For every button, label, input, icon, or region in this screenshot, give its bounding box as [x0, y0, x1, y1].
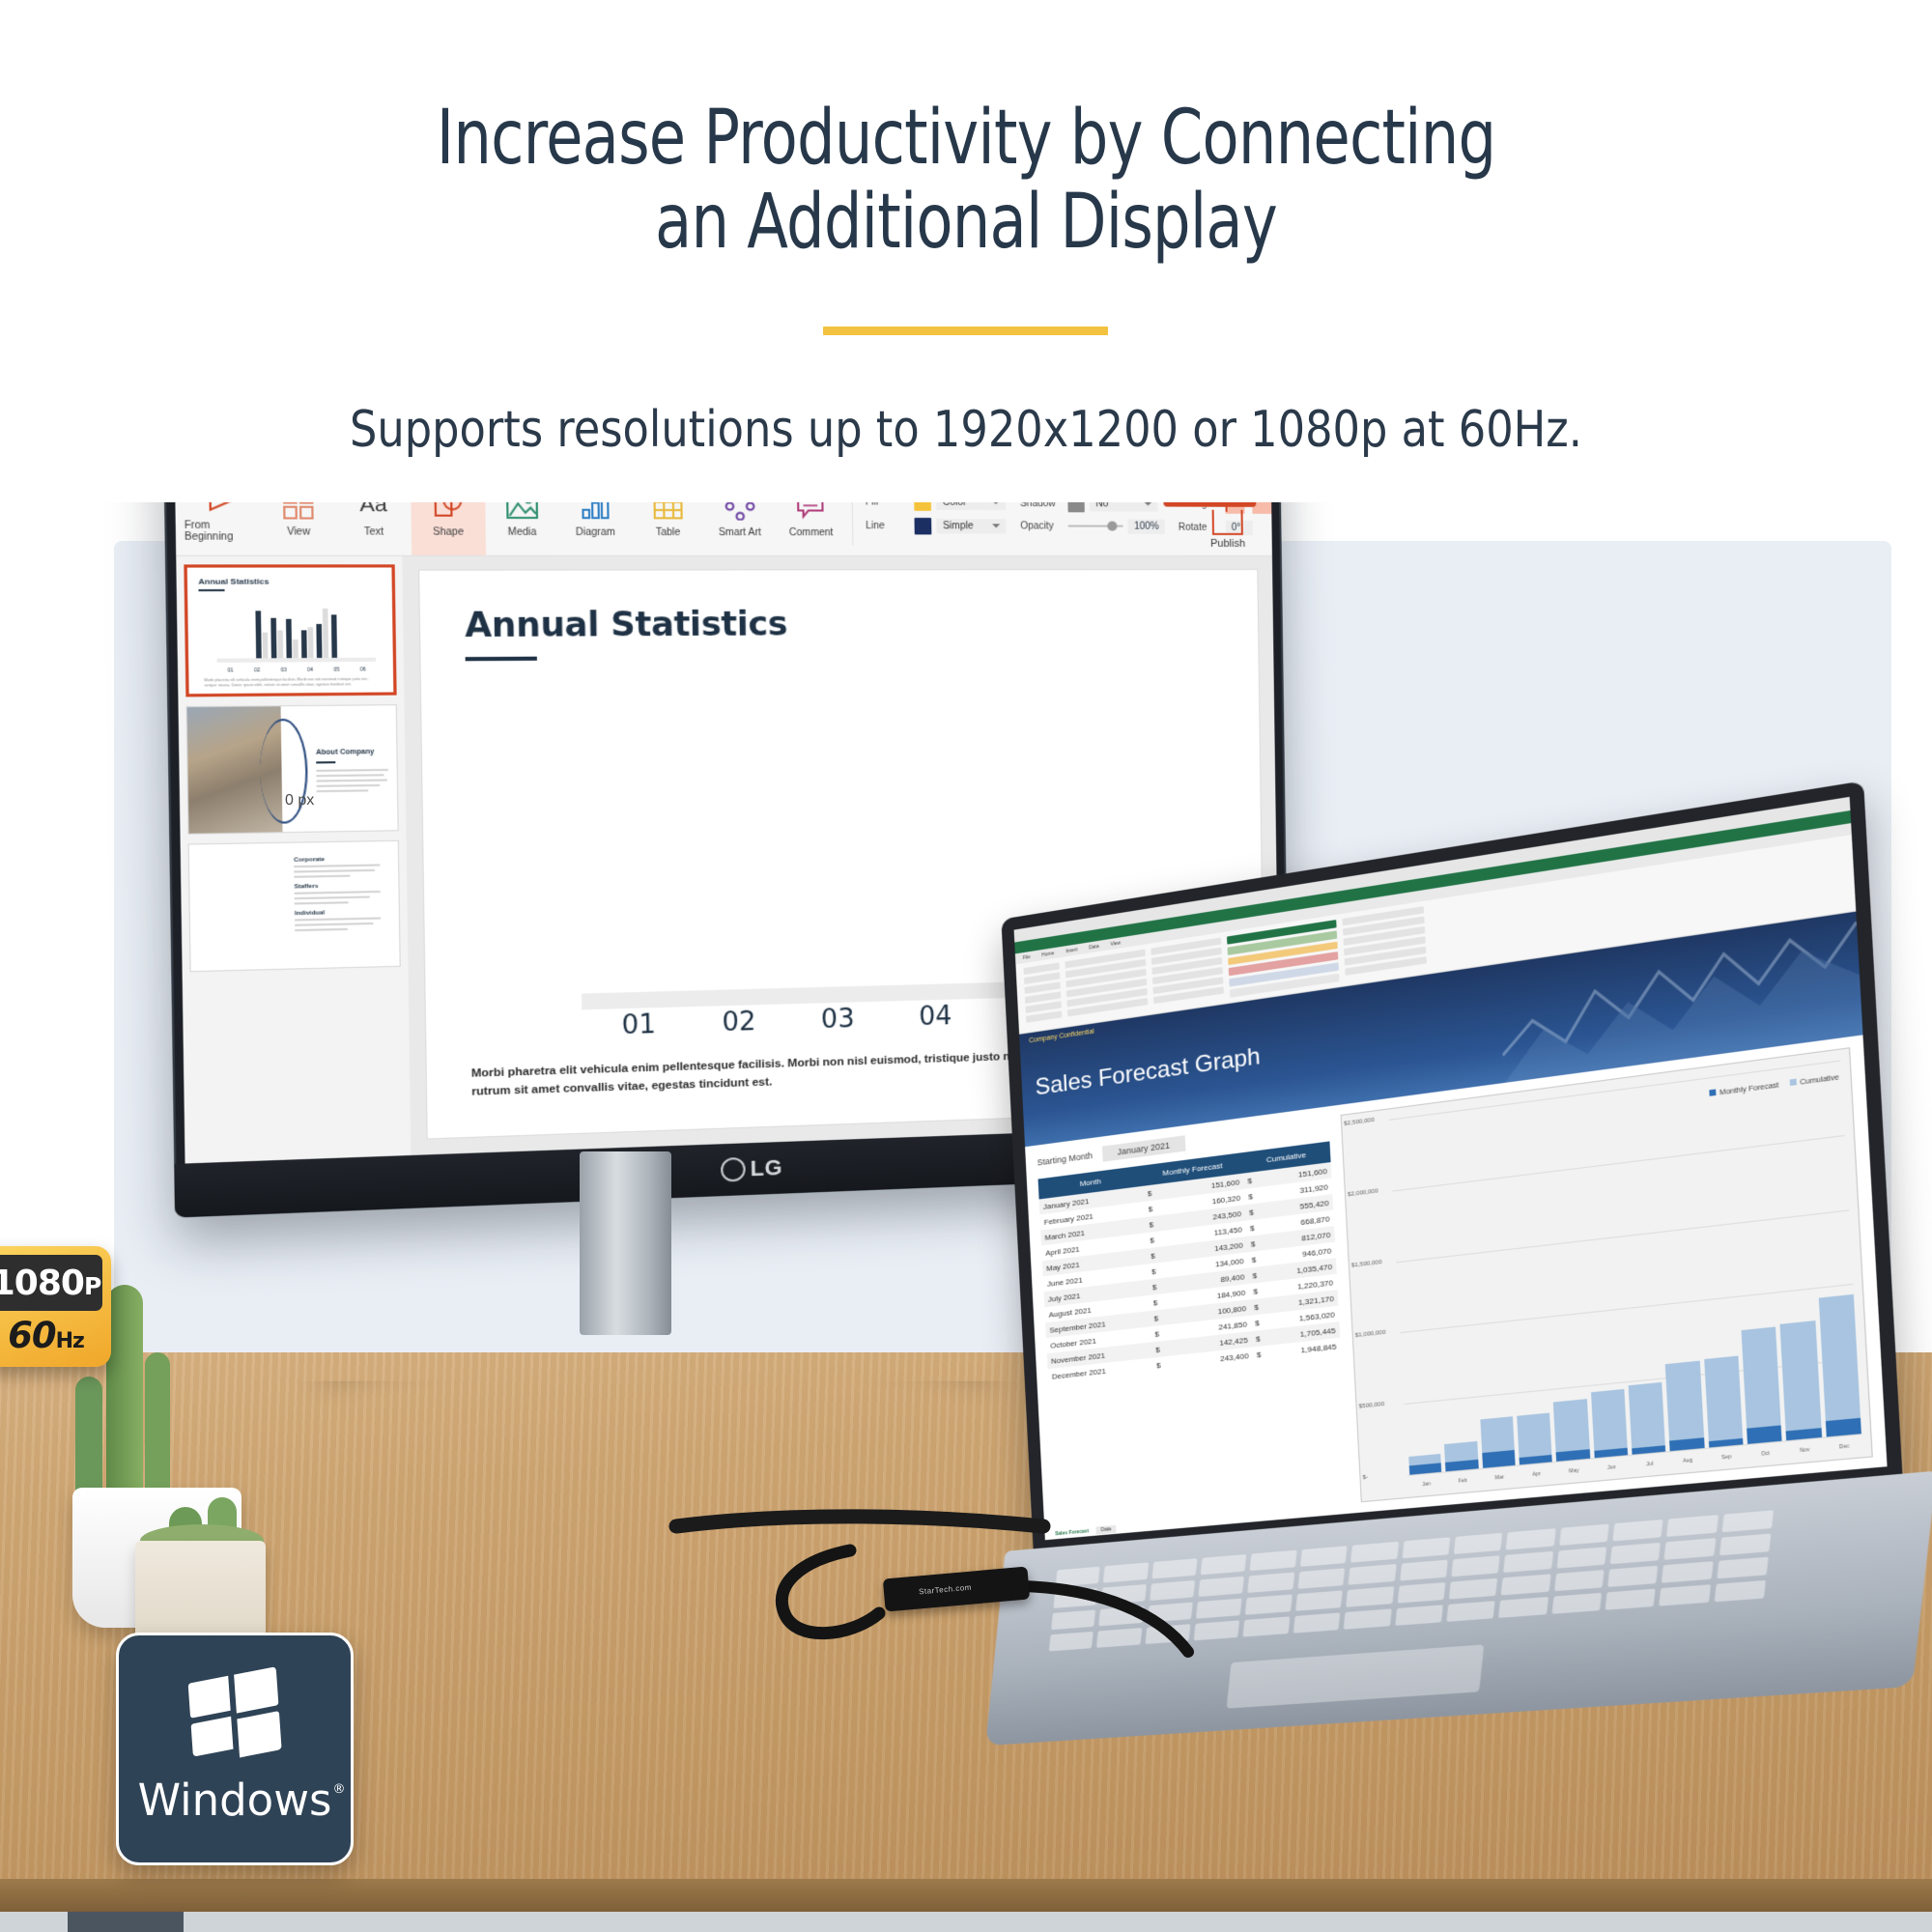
fill-type-select[interactable]: Color [936, 502, 1006, 510]
x-tick: 01 [621, 1010, 656, 1041]
bar-column [1739, 1284, 1782, 1444]
product-scene: Presentation 1 - PowerPoint Align Center… [0, 502, 1932, 1932]
bar-column [1474, 1313, 1515, 1468]
chevron-down-icon [993, 524, 1001, 527]
ribbon-toolbar: From Beginning View [175, 502, 1272, 556]
tick: 01 [227, 668, 233, 673]
ribbon-label: Text [364, 526, 384, 538]
desk-edge [0, 1879, 1932, 1912]
sales-forecast-chart: Monthly Forecast Cumulative $- $500,000 … [1341, 1047, 1873, 1502]
tick: 02 [254, 668, 260, 673]
ribbon-media[interactable]: Media [485, 502, 559, 555]
excel-sheet-title: Sales Forecast Graph [1035, 1043, 1261, 1102]
resolution-badge: 1080P 60Hz [0, 1246, 111, 1367]
lg-circle-icon [721, 1157, 746, 1182]
ribbon-label: Media [508, 526, 537, 538]
opacity-label: Opacity [1020, 521, 1064, 531]
ribbon-divider [852, 502, 854, 546]
excel-tab[interactable]: Data [1089, 943, 1099, 951]
slide-thumbnail-1[interactable]: Annual Statistics [184, 564, 396, 696]
share-button[interactable]: Share [1163, 502, 1257, 507]
cactus-tall [106, 1285, 143, 1512]
tick: 04 [307, 668, 313, 673]
slider-knob[interactable] [1108, 522, 1118, 531]
shadow-select[interactable]: No [1090, 502, 1158, 511]
laptop: File Home Insert Data View [974, 776, 1932, 1826]
excel-toolbar-group [1151, 938, 1224, 1009]
thumbnail-columns: Corporate Staffers Individual [294, 856, 388, 935]
zoom-readout: 0 px [285, 792, 314, 810]
fill-value: Color [943, 502, 967, 507]
thumbnail-title: About Company [316, 749, 374, 756]
headline-line-1: Increase Productivity by Connecting [437, 95, 1496, 182]
windows-wordmark: Windows® [138, 1775, 332, 1826]
page-headline: Increase Productivity by Connecting an A… [193, 97, 1739, 266]
starting-month-label: Starting Month [1037, 1151, 1093, 1168]
thumbnail-body-lines [316, 769, 388, 796]
ribbon-label: Table [656, 526, 681, 537]
publish-label: Publish [1210, 538, 1245, 550]
line-color-swatch[interactable] [915, 517, 932, 533]
fill-label: Fill [866, 502, 910, 507]
laptop-lid: File Home Insert Data View [1001, 781, 1902, 1553]
comment-bubble-icon [796, 502, 825, 523]
ribbon-label: From Beginning [185, 520, 261, 543]
excel-tab[interactable]: Home [1041, 951, 1054, 958]
excel-toolbar-group [1342, 906, 1427, 980]
thumbnail-title: Annual Statistics [198, 577, 391, 586]
cactus-right [145, 1352, 170, 1507]
tick: 06 [360, 667, 366, 672]
shadow-label: Shadow [1020, 502, 1064, 509]
thumbnail-chart [216, 600, 376, 658]
fill-line-group: Fill Color Line [866, 502, 1007, 534]
bar-column [1777, 1280, 1821, 1441]
ribbon-view[interactable]: View [260, 502, 337, 555]
headline-line-2: an Additional Display [193, 181, 1739, 265]
excel-window: File Home Insert Data View [1014, 797, 1888, 1540]
x-tick: 02 [722, 1008, 756, 1038]
tick: 03 [281, 668, 287, 673]
slide-thumbnail-3[interactable]: Corporate Staffers Individual [188, 840, 401, 972]
bar-column [1624, 1296, 1666, 1455]
shadow-opacity-group: Shadow No Opacity 100% [1020, 502, 1165, 533]
windows-compatibility-badge: Windows® [116, 1633, 354, 1865]
ribbon-label: Diagram [576, 526, 615, 538]
slide-title-underline [466, 657, 537, 662]
slide-thumbnail-2[interactable]: About Company [185, 704, 398, 835]
ribbon-diagram[interactable]: Diagram [558, 502, 633, 555]
ribbon-label: Smart Art [719, 526, 761, 537]
excel-toolbar-group [1023, 962, 1062, 1027]
bar-chart-icon [581, 502, 611, 523]
x-tick: 03 [821, 1005, 855, 1036]
desk-front-panel [0, 1912, 1932, 1932]
bar-column [1817, 1275, 1861, 1436]
thumbnail-rule [316, 761, 335, 763]
excel-table-panel: Starting Month January 2021 Month Monthl… [1037, 1117, 1349, 1530]
shadow-value: No [1095, 502, 1108, 509]
thumbnail-heading: Staffers [295, 882, 388, 890]
smart-art-nodes-icon [724, 502, 754, 523]
ribbon-from-beginning[interactable]: From Beginning [184, 502, 261, 555]
laptop-trackpad[interactable] [1227, 1644, 1485, 1708]
table-grid-icon [653, 502, 682, 523]
adapter-brand-label: StarTech.com [919, 1583, 972, 1597]
line-label: Line [866, 520, 910, 530]
ribbon-table[interactable]: Table [631, 502, 704, 555]
ribbon-label: Shape [433, 526, 464, 538]
bar-column [1511, 1309, 1552, 1465]
starting-month-value[interactable]: January 2021 [1101, 1135, 1185, 1162]
ribbon-comment[interactable]: Comment [775, 502, 847, 555]
thumbnail-axis-labels: 01 02 03 04 05 06 [217, 667, 377, 673]
thumbnail-axis [217, 658, 377, 663]
excel-styles-group [1227, 920, 1340, 998]
opacity-value: 100% [1128, 519, 1165, 533]
slide-title: Annual Statistics [465, 603, 1218, 644]
thumbnail-rule [198, 589, 224, 591]
lg-brand-logo: LG [721, 1154, 782, 1182]
x-tick: 04 [919, 1002, 952, 1033]
sales-forecast-table: Month Monthly Forecast Cumulative Januar… [1038, 1141, 1342, 1384]
text-aa-icon: Aa [359, 502, 387, 522]
bar-column [1700, 1288, 1743, 1447]
shadow-color-swatch[interactable] [1068, 502, 1086, 512]
line-style-select[interactable]: Simple [937, 519, 1007, 533]
excel-tab[interactable]: Insert [1065, 947, 1078, 954]
ribbon-label: View [287, 526, 310, 537]
thumbnail-heading: Individual [295, 909, 388, 917]
thumbnail-body-text: Morbi pharetra elit vehicula enim pellen… [204, 676, 381, 689]
resolution-badge-screen: 1080P [0, 1255, 102, 1311]
opacity-row: Opacity 100% [1020, 519, 1165, 533]
ribbon-label: Comment [789, 526, 834, 537]
bar-column [1548, 1304, 1590, 1461]
laptop-screen: File Home Insert Data View [1014, 797, 1888, 1540]
image-media-icon [506, 502, 538, 523]
thumbnail-heading: Corporate [294, 856, 387, 864]
excel-tab[interactable]: View [1110, 940, 1121, 948]
chevron-down-icon [1145, 502, 1152, 506]
accent-divider [823, 327, 1108, 335]
table-body: January 2021$151,600$151,600 February 20… [1039, 1162, 1342, 1384]
page-subheadline: Supports resolutions up to 1920x1200 or … [135, 401, 1797, 459]
bar-column [1662, 1293, 1704, 1452]
fill-row: Fill Color [866, 502, 1007, 511]
bar-column [1402, 1321, 1442, 1475]
publish-button[interactable]: Publish [1210, 510, 1246, 550]
bar-column [1437, 1317, 1478, 1471]
excel-toolbar-group [1065, 950, 1148, 1022]
fill-color-swatch[interactable] [915, 502, 932, 510]
tick: 05 [333, 667, 339, 672]
confidentiality-tag: Company Confidential [1029, 1029, 1094, 1045]
chevron-down-icon [992, 502, 1000, 504]
refresh-rate-text: 60Hz [0, 1315, 102, 1356]
ribbon-text[interactable]: Aa Text [335, 502, 412, 555]
play-triangle-icon [205, 502, 241, 516]
ribbon-smart-art[interactable]: Smart Art [703, 502, 776, 555]
resolution-text: 1080P [0, 1264, 100, 1303]
excel-tab[interactable]: File [1023, 953, 1031, 960]
shadow-row: Shadow No [1020, 502, 1165, 512]
opacity-slider[interactable] [1068, 525, 1123, 526]
desk-leg [68, 1912, 184, 1932]
monitor-stand-neck [580, 1151, 671, 1335]
shapes-icon [432, 502, 464, 523]
ribbon-shape[interactable]: Shape [411, 502, 486, 555]
publish-upload-icon [1212, 510, 1243, 535]
lg-wordmark: LG [750, 1154, 782, 1181]
slide-thumbnail-panel[interactable]: Annual Statistics [176, 556, 411, 1164]
bar-column [1586, 1300, 1628, 1458]
line-row: Line Simple [866, 517, 1007, 534]
line-value: Simple [943, 521, 974, 531]
windows-logo-icon [187, 1669, 282, 1760]
grid-four-panes-icon [283, 502, 314, 522]
